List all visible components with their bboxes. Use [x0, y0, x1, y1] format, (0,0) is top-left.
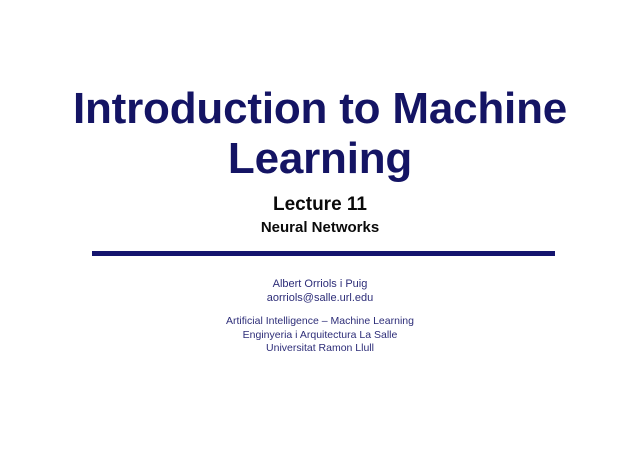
slide-title-line-1: Introduction to Machine	[0, 84, 640, 134]
slide-subtitle: Lecture 11 Neural Networks	[0, 193, 640, 238]
affiliation-info: Artificial Intelligence – Machine Learni…	[0, 315, 640, 356]
author-info: Albert Orriols i Puig aorriols@salle.url…	[0, 277, 640, 305]
slide-title: Introduction to Machine Learning	[0, 84, 640, 184]
affiliation-university: Universitat Ramon Llull	[0, 342, 640, 356]
lecture-number: Lecture 11	[0, 193, 640, 217]
title-divider-rule	[92, 251, 555, 256]
lecture-topic: Neural Networks	[0, 217, 640, 238]
affiliation-school: Enginyeria i Arquitectura La Salle	[0, 329, 640, 343]
author-email: aorriols@salle.url.edu	[0, 291, 640, 305]
author-name: Albert Orriols i Puig	[0, 277, 640, 291]
presentation-slide: Introduction to Machine Learning Lecture…	[0, 0, 640, 452]
affiliation-course: Artificial Intelligence – Machine Learni…	[0, 315, 640, 329]
slide-title-line-2: Learning	[0, 134, 640, 184]
